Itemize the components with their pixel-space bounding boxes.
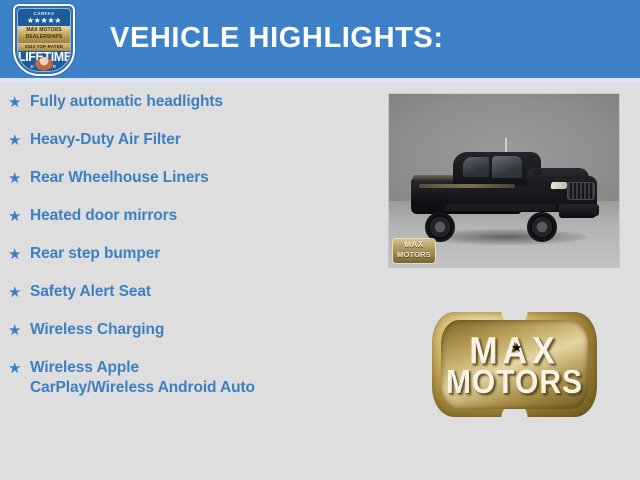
list-item-label: Wireless Apple: [30, 359, 139, 376]
list-item: ★ Heated door mirrors: [0, 206, 370, 226]
list-item: ★ Safety Alert Seat: [0, 282, 370, 302]
list-item-label: Heavy-Duty Air Filter: [30, 130, 181, 150]
badge-dealer-type: DEALERSHIPS: [18, 34, 70, 41]
star-bullet-icon: ★: [8, 168, 30, 188]
truck-rocker-panel: [445, 204, 555, 211]
star-bullet-icon: ★: [8, 206, 30, 226]
header-divider: [0, 78, 640, 83]
list-item-label: Rear step bumper: [30, 244, 160, 264]
list-item-label: Wireless Charging: [30, 320, 164, 340]
truck-grille: [567, 182, 595, 200]
list-item-label: Fully automatic headlights: [30, 92, 223, 112]
list-item-label: Rear Wheelhouse Liners: [30, 168, 209, 188]
list-item: ★ Rear step bumper: [0, 244, 370, 264]
list-item-label-line2: CarPlay/Wireless Android Auto: [30, 379, 255, 396]
star-bullet-icon: ★: [8, 358, 30, 378]
star-bullet-icon: ★: [8, 320, 30, 340]
star-bullet-icon: ★: [8, 244, 30, 264]
badge-gold-band: MAX MOTORS DEALERSHIPS: [18, 26, 70, 43]
truck-bumper: [559, 204, 599, 216]
page-title: VEHICLE HIGHLIGHTS:: [110, 22, 444, 55]
vehicle-photo[interactable]: MAX MOTORS: [388, 93, 620, 268]
badge-dealer-name: MAX MOTORS: [18, 27, 70, 34]
truck-rear-window: [463, 157, 489, 177]
star-bullet-icon: ★: [8, 92, 30, 112]
star-bullet-icon: ★: [8, 282, 30, 302]
list-item-label: Heated door mirrors: [30, 206, 177, 226]
watermark-line-1: MAX: [393, 239, 435, 250]
truck-front-wheel: [527, 212, 557, 242]
vehicle-highlights-list: ★ Fully automatic headlights ★ Heavy-Dut…: [0, 92, 370, 398]
logo-text-motors: MOTORS: [432, 364, 597, 401]
photo-watermark-logo: MAX MOTORS: [392, 238, 436, 264]
truck-headlight: [551, 182, 568, 189]
truck-side-reflection: [419, 184, 515, 188]
badge-person-icon: [35, 57, 53, 72]
badge-shield-shape: CARFAX ★★★★★ MAX MOTORS DEALERSHIPS 2023…: [13, 4, 75, 76]
slide-canvas: CARFAX ★★★★★ MAX MOTORS DEALERSHIPS 2023…: [0, 0, 640, 480]
logo-star-icon: ★: [511, 342, 523, 355]
star-bullet-icon: ★: [8, 130, 30, 150]
truck-side-mirror: [533, 169, 542, 175]
watermark-line-2: MOTORS: [393, 250, 435, 260]
list-item: ★ Wireless Charging: [0, 320, 370, 340]
carfax-top-rated-dealer-badge: CARFAX ★★★★★ MAX MOTORS DEALERSHIPS 2023…: [13, 4, 75, 76]
truck-windshield: [492, 156, 522, 178]
max-motors-dealer-logo[interactable]: MAX ★ MOTORS: [432, 312, 597, 417]
list-item: ★ Fully automatic headlights: [0, 92, 370, 112]
list-item-label-wrapper: Wireless Apple CarPlay/Wireless Android …: [30, 358, 255, 398]
list-item-label: Safety Alert Seat: [30, 282, 151, 302]
badge-shield-inner: CARFAX ★★★★★ MAX MOTORS DEALERSHIPS 2023…: [17, 8, 71, 72]
list-item: ★ Rear Wheelhouse Liners: [0, 168, 370, 188]
list-item: ★ Heavy-Duty Air Filter: [0, 130, 370, 150]
badge-stars-icon: ★★★★★: [18, 16, 70, 25]
list-item: ★ Wireless Apple CarPlay/Wireless Androi…: [0, 358, 370, 398]
truck-illustration: [409, 142, 604, 242]
header-bar: CARFAX ★★★★★ MAX MOTORS DEALERSHIPS 2023…: [0, 0, 640, 78]
